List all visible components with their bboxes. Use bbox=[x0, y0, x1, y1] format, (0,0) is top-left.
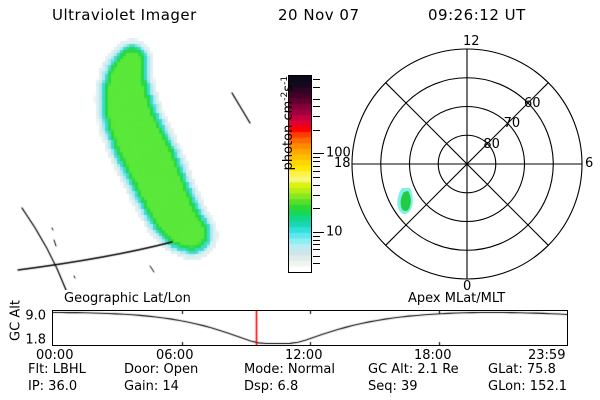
status-block: Flt: LBHLDoor: OpenMode: NormalGC Alt: 2… bbox=[0, 362, 600, 400]
strip-x-tick-label: 00:00 bbox=[36, 349, 73, 362]
geographic-image-panel bbox=[0, 38, 270, 290]
mlt-label-6: 6 bbox=[585, 157, 593, 170]
colorbar-minor-tick bbox=[313, 157, 320, 158]
header-bar: Ultraviolet Imager 20 Nov 07 09:26:12 UT bbox=[0, 6, 600, 30]
colorbar-panel: 10010 photon cm-2s-1 bbox=[270, 60, 340, 290]
colorbar-minor-tick bbox=[313, 244, 320, 245]
mlat-label-70: 70 bbox=[504, 117, 521, 130]
status-ip: IP: 36.0 bbox=[28, 379, 77, 394]
colorbar-minor-tick bbox=[313, 166, 320, 167]
mlat-label-60: 60 bbox=[524, 97, 541, 110]
colorbar-minor-tick bbox=[313, 256, 320, 257]
aurora-image bbox=[0, 38, 270, 290]
colorbar-major-tick bbox=[313, 232, 324, 233]
colorbar-minor-tick bbox=[313, 161, 320, 162]
colorbar-minor-tick bbox=[313, 236, 320, 237]
strip-x-tick-label: 12:00 bbox=[285, 349, 322, 362]
status-mode: Mode: Normal bbox=[244, 362, 335, 377]
colorbar-major-tick bbox=[313, 153, 324, 154]
status-door: Door: Open bbox=[124, 362, 198, 377]
colorbar-minor-tick bbox=[313, 249, 320, 250]
strip-x-tick-label: 23:59 bbox=[528, 349, 565, 362]
status-dsp: Dsp: 6.8 bbox=[244, 379, 298, 394]
polar-grid bbox=[340, 38, 600, 290]
status-gcalt: GC Alt: 2.1 Re bbox=[368, 362, 459, 377]
status-glat: GLat: 75.8 bbox=[488, 362, 556, 377]
colorbar-minor-tick bbox=[313, 263, 320, 264]
strip-y-tick-label: 9.0 bbox=[14, 310, 46, 323]
left-panel-caption: Geographic Lat/Lon bbox=[64, 291, 191, 306]
status-seq: Seq: 39 bbox=[368, 379, 418, 394]
observation-time: 09:26:12 UT bbox=[428, 6, 526, 24]
status-glon: GLon: 152.1 bbox=[488, 379, 567, 394]
right-panel-caption: Apex MLat/MLT bbox=[408, 291, 505, 306]
apex-polar-panel: 126018607080 bbox=[340, 38, 600, 290]
colorbar-axis-label: photon cm-2s-1 bbox=[280, 53, 296, 193]
colorbar-minor-tick bbox=[313, 99, 320, 100]
colorbar-minor-tick bbox=[313, 130, 320, 131]
colorbar-minor-tick bbox=[313, 116, 320, 117]
mlt-label-12: 12 bbox=[463, 35, 480, 48]
strip-plot-box[interactable] bbox=[52, 310, 568, 346]
colorbar-minor-tick bbox=[313, 87, 320, 88]
colorbar-minor-tick bbox=[313, 106, 320, 107]
colorbar-minor-tick bbox=[313, 171, 320, 172]
status-flt: Flt: LBHL bbox=[28, 362, 86, 377]
mlat-label-80: 80 bbox=[483, 138, 500, 151]
colorbar-minor-tick bbox=[313, 177, 320, 178]
observation-date: 20 Nov 07 bbox=[278, 6, 360, 24]
status-gain: Gain: 14 bbox=[124, 379, 179, 394]
colorbar-minor-tick bbox=[313, 185, 320, 186]
colorbar-minor-tick bbox=[313, 195, 320, 196]
instrument-title: Ultraviolet Imager bbox=[52, 6, 197, 24]
mlt-label-18: 18 bbox=[334, 157, 351, 170]
strip-y-tick-label: 1.8 bbox=[14, 334, 46, 347]
strip-x-tick-label: 18:00 bbox=[414, 349, 451, 362]
colorbar-minor-tick bbox=[313, 240, 320, 241]
strip-x-tick-label: 06:00 bbox=[156, 349, 193, 362]
altitude-curve bbox=[53, 311, 567, 345]
colorbar-minor-tick bbox=[313, 79, 320, 80]
orbit-altitude-strip: GC Alt 9.01.8 00:0006:0012:0018:0023:59 bbox=[0, 305, 600, 357]
colorbar-minor-tick bbox=[313, 208, 320, 209]
